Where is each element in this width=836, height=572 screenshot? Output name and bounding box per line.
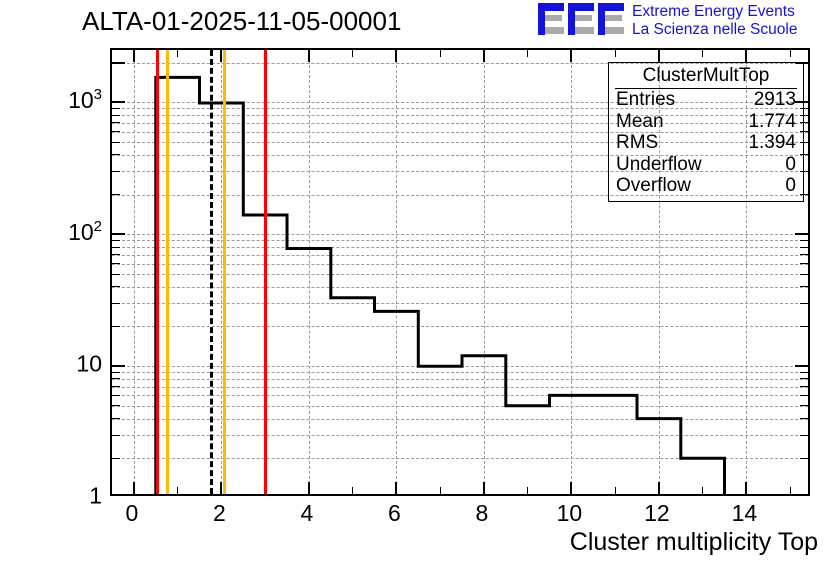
marker-line [223,50,226,494]
y-tick-label: 103 [40,87,102,115]
eee-logo-text: Extreme Energy Events La Scienza nelle S… [632,3,797,38]
x-tick-label: 8 [475,500,488,527]
stats-row: Overflow0 [609,175,803,197]
stats-row-key: RMS [616,132,658,154]
stats-row-value: 1.774 [748,111,796,133]
eee-logo-line1: Extreme Energy Events [632,3,797,21]
stats-row: RMS1.394 [609,132,803,154]
stats-box-title: ClusterMultTop [615,63,797,89]
stats-row-value: 1.394 [748,132,796,154]
stats-box-rows: Entries2913Mean1.774RMS1.394Underflow0Ov… [609,89,803,197]
eee-logo-line2: La Scienza nelle Scuole [632,21,797,39]
stats-row-key: Mean [616,111,664,133]
stats-row: Entries2913 [609,89,803,111]
x-axis-title: Cluster multiplicity Top [570,528,818,557]
x-tick-label: 10 [557,500,583,527]
y-tick-label: 1 [40,483,102,510]
marker-line [210,50,213,494]
stats-row-key: Underflow [616,154,702,176]
stats-row-value: 2913 [754,89,796,111]
x-tick-label: 6 [388,500,401,527]
stats-row-key: Entries [616,89,675,111]
x-tick-label: 2 [213,500,226,527]
marker-line [156,50,159,494]
stats-row-key: Overflow [616,175,691,197]
x-tick-label: 12 [644,500,670,527]
marker-line [264,50,267,494]
y-tick-label: 102 [40,218,102,246]
plot-title: ALTA-01-2025-11-05-00001 [82,6,401,37]
marker-line [166,50,169,494]
eee-logo-letter-2 [568,3,594,35]
x-tick-label: 4 [300,500,313,527]
y-tick-label: 10 [40,351,102,378]
eee-logo: Extreme Energy Events La Scienza nelle S… [538,3,828,39]
x-tick-label: 0 [125,500,138,527]
stats-box: ClusterMultTop Entries2913Mean1.774RMS1.… [608,62,804,202]
stats-row: Underflow0 [609,154,803,176]
stats-row: Mean1.774 [609,111,803,133]
eee-logo-letter-1 [538,3,564,35]
eee-logo-letter-3 [598,3,624,35]
stats-row-value: 0 [785,175,796,197]
stats-row-value: 0 [785,154,796,176]
x-tick-label: 14 [732,500,758,527]
